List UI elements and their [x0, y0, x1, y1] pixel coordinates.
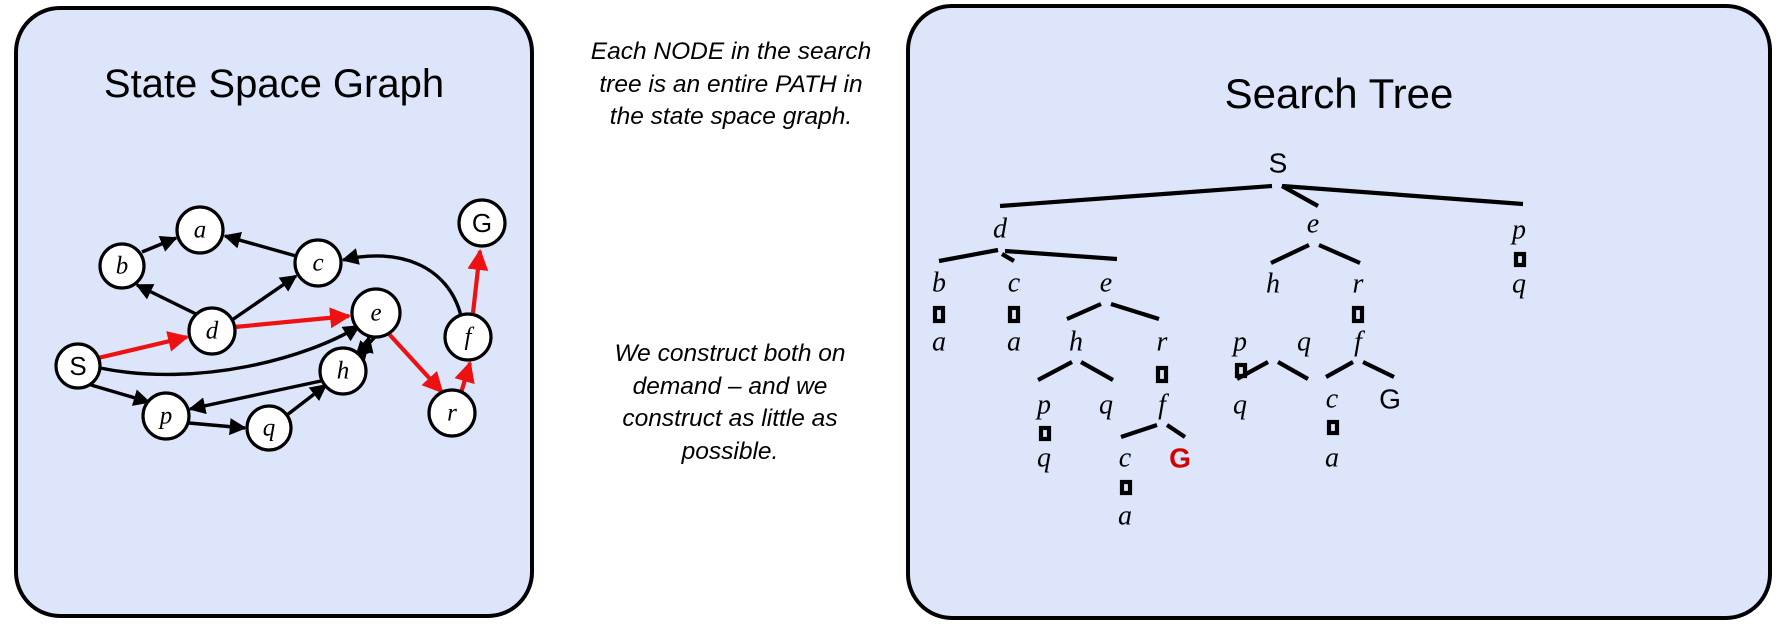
state-node-d-label: d: [206, 318, 219, 345]
tree-edge-p-q-dot: [1516, 254, 1524, 265]
tree-node-e-r-f-c-a[interactable]: a: [1325, 443, 1339, 474]
search-tree-panel: Search Tree: [906, 4, 1772, 620]
state-node-q-label: q: [263, 415, 276, 442]
search-tree-canvas: S d e p b c e h r q a a h r p q f p q f …: [910, 8, 1776, 624]
edge-d-to-b: [137, 285, 196, 314]
edge-S-to-p: [91, 385, 149, 402]
tree-node-e-r-f[interactable]: f: [1354, 327, 1365, 358]
edge-c-to-a: [225, 236, 296, 256]
tree-node-d[interactable]: d: [993, 214, 1008, 245]
state-node-r[interactable]: r: [429, 390, 475, 436]
tree-edge-de-h: [1067, 304, 1101, 319]
tree-node-d-e-r-f-c[interactable]: c: [1119, 443, 1132, 474]
tree-node-e-h[interactable]: h: [1266, 269, 1280, 300]
state-node-r-label: r: [447, 400, 457, 427]
tree-edge-derf-G: [1167, 425, 1185, 437]
tree-edge-S-p: [1282, 186, 1523, 204]
state-node-a-label: a: [194, 217, 207, 244]
tree-node-d-e[interactable]: e: [1100, 268, 1112, 299]
state-node-c[interactable]: c: [295, 240, 341, 286]
tree-edge-S-d: [1000, 186, 1272, 206]
tree-edge-e-r: [1319, 245, 1360, 263]
tree-node-d-e-r-f-c-a[interactable]: a: [1118, 501, 1132, 532]
tree-node-d-e-r[interactable]: r: [1157, 327, 1168, 358]
tree-edge-erf-G: [1363, 362, 1394, 377]
state-node-h-label: h: [337, 358, 350, 385]
tree-edge-e-h: [1271, 245, 1309, 263]
edge-S-to-d-highlight: [98, 337, 187, 358]
tree-edge-deh-q: [1081, 362, 1113, 380]
tree-edge-b-a-dot: [935, 308, 943, 321]
state-node-G[interactable]: G: [459, 200, 505, 246]
tree-node-d-b-a[interactable]: a: [932, 327, 946, 358]
state-space-graph-canvas: S b a c d e h: [18, 10, 538, 622]
tree-edge-ehp-q-dot: [1237, 365, 1245, 376]
edge-p-to-q: [189, 423, 245, 428]
tree-node-e-r[interactable]: r: [1353, 269, 1364, 300]
tree-node-e-h-p[interactable]: p: [1231, 327, 1247, 358]
tree-node-d-c-a[interactable]: a: [1007, 327, 1021, 358]
tree-edge-erf-c: [1326, 362, 1353, 377]
tree-edge-d-c: [1002, 254, 1014, 261]
tree-edge-derf-c: [1121, 425, 1157, 437]
state-node-b-label: b: [116, 253, 129, 280]
state-space-graph-panel: State Space Graph: [14, 6, 534, 618]
edge-q-to-h: [287, 385, 326, 415]
tree-edge-dehp-q-dot: [1041, 428, 1049, 439]
edge-r-to-f-highlight: [461, 363, 470, 393]
search-tree-edges: [935, 186, 1524, 493]
state-node-e-label: e: [370, 300, 381, 327]
state-node-S-label: S: [69, 351, 86, 381]
state-node-d[interactable]: d: [189, 308, 235, 354]
note-each-node: Each NODE in the search tree is an entir…: [586, 36, 876, 134]
tree-node-e-r-f-G[interactable]: G: [1379, 384, 1401, 415]
tree-node-d-e-r-f-G-goal[interactable]: G: [1169, 443, 1191, 474]
tree-node-d-e-h-p[interactable]: p: [1035, 390, 1051, 421]
tree-node-d-b[interactable]: b: [932, 268, 946, 299]
tree-node-p[interactable]: p: [1510, 215, 1526, 246]
tree-node-d-e-h[interactable]: h: [1069, 327, 1083, 358]
tree-edge-eh-q: [1278, 362, 1308, 379]
tree-node-e[interactable]: e: [1307, 209, 1319, 240]
state-node-e[interactable]: e: [352, 289, 400, 337]
tree-node-d-e-h-p-q[interactable]: q: [1037, 443, 1051, 474]
tree-node-p-q[interactable]: q: [1512, 269, 1526, 300]
state-node-c-label: c: [312, 250, 323, 277]
state-node-h[interactable]: h: [320, 348, 366, 394]
tree-edge-d-b: [939, 250, 998, 261]
edge-b-to-a: [142, 238, 176, 252]
tree-edge-derfc-a-dot: [1122, 482, 1130, 493]
tree-edge-der-f-dot: [1158, 368, 1166, 381]
tree-edge-d-e: [1005, 251, 1117, 259]
tree-edge-erfc-a-dot: [1329, 422, 1337, 433]
tree-node-d-e-h-q[interactable]: q: [1099, 390, 1113, 421]
note-construct-on-demand: We construct both on demand – and we con…: [580, 338, 880, 468]
tree-node-e-h-q[interactable]: q: [1297, 327, 1311, 358]
tree-edge-deh-p: [1038, 362, 1072, 380]
tree-edge-er-f-dot: [1354, 308, 1362, 321]
tree-node-e-r-f-c[interactable]: c: [1326, 384, 1339, 415]
tree-node-d-c[interactable]: c: [1008, 268, 1021, 299]
tree-node-d-e-r-f[interactable]: f: [1158, 390, 1169, 421]
state-node-S[interactable]: S: [56, 344, 100, 388]
tree-edge-de-r: [1111, 304, 1159, 319]
state-node-G-label: G: [472, 208, 492, 238]
edge-f-to-G-highlight: [473, 251, 480, 313]
tree-node-S[interactable]: S: [1269, 148, 1288, 179]
edge-e-to-r-highlight: [389, 334, 442, 392]
state-node-p[interactable]: p: [143, 393, 189, 439]
tree-node-e-h-p-q[interactable]: q: [1233, 390, 1247, 421]
state-node-q[interactable]: q: [247, 406, 291, 450]
state-node-b[interactable]: b: [100, 244, 144, 288]
state-node-p-label: p: [158, 403, 173, 430]
state-node-a[interactable]: a: [177, 207, 223, 253]
state-node-f[interactable]: f: [445, 314, 491, 360]
state-space-nodes: S b a c d e h: [56, 200, 505, 450]
edge-d-to-e-highlight: [235, 316, 349, 327]
edge-d-to-c: [232, 276, 296, 320]
tree-edge-c-a-dot: [1010, 308, 1018, 321]
